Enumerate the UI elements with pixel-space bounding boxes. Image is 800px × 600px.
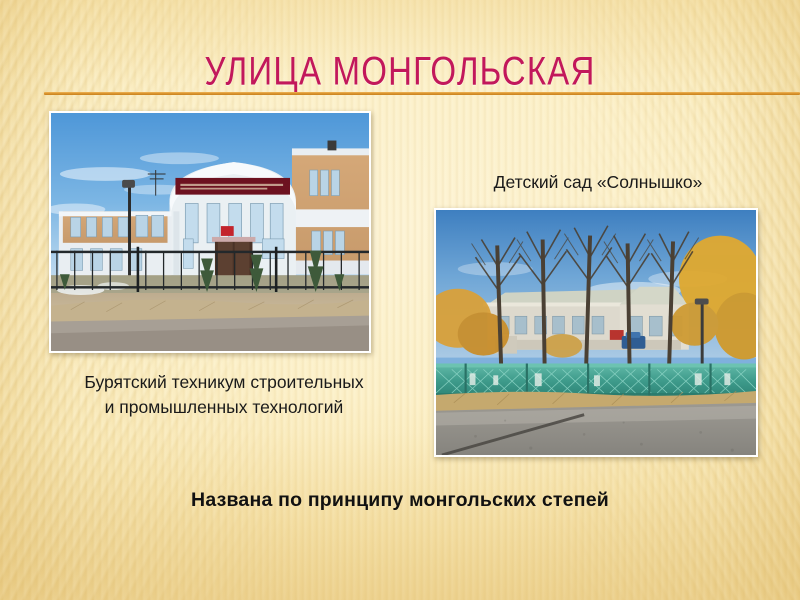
photo-kindergarten-building[interactable]: [434, 208, 758, 457]
footer-statement: Названа по принципу монгольских степей: [0, 489, 800, 512]
slide-root: Улица Монгольская: [0, 0, 800, 600]
caption-college-building: Бурятский техникум строительных и промыш…: [24, 370, 424, 420]
title-underline-rule: [44, 92, 800, 95]
caption-kindergarten: Детский сад «Солнышко»: [418, 170, 778, 195]
page-title: Улица Монгольская: [0, 48, 800, 94]
caption-college-line-2: и промышленных технологий: [24, 395, 424, 420]
caption-college-line-1: Бурятский техникум строительных: [24, 370, 424, 395]
photo-college-building[interactable]: [49, 111, 371, 353]
